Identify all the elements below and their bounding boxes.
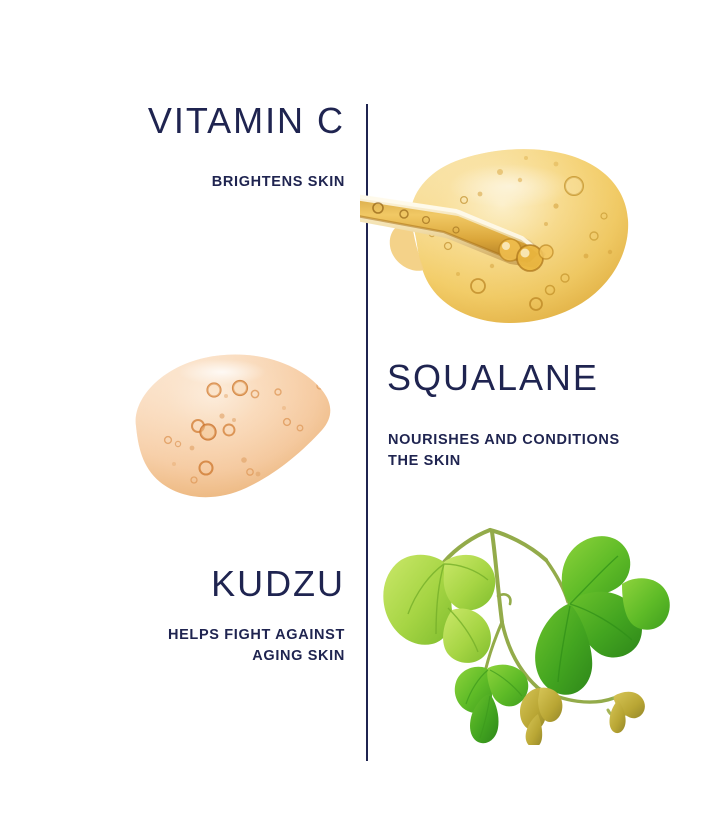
squalane-benefit-line-2: THE SKIN [388,451,688,472]
vitamin-c-gel-image [126,344,341,506]
leaf-cluster-lower [455,665,528,744]
squalane-benefit-line-1: NOURISHES AND CONDITIONS [388,430,688,451]
ingredient-benefits-panel: VITAMIN C BRIGHTENS SKIN SQUALANE NOURIS… [0,0,720,835]
squalane-heading: SQUALANE [387,360,599,396]
kudzu-benefit-line-1: HELPS FIGHT AGAINST [168,625,345,646]
vitamin-c-heading: VITAMIN C [148,103,345,139]
kudzu-plant-image [378,500,678,745]
leaf-cluster-right [535,536,670,695]
kudzu-benefit-line-2: AGING SKIN [168,646,345,667]
young-leaflets [520,688,645,745]
squalane-benefit-text: NOURISHES AND CONDITIONS THE SKIN [388,430,688,472]
squalane-serum-image [360,128,650,338]
leaf-cluster-left [383,555,495,663]
kudzu-benefit-text: HELPS FIGHT AGAINST AGING SKIN [168,625,345,667]
vitamin-c-benefit-text: BRIGHTENS SKIN [212,172,345,193]
kudzu-heading: KUDZU [211,566,345,602]
